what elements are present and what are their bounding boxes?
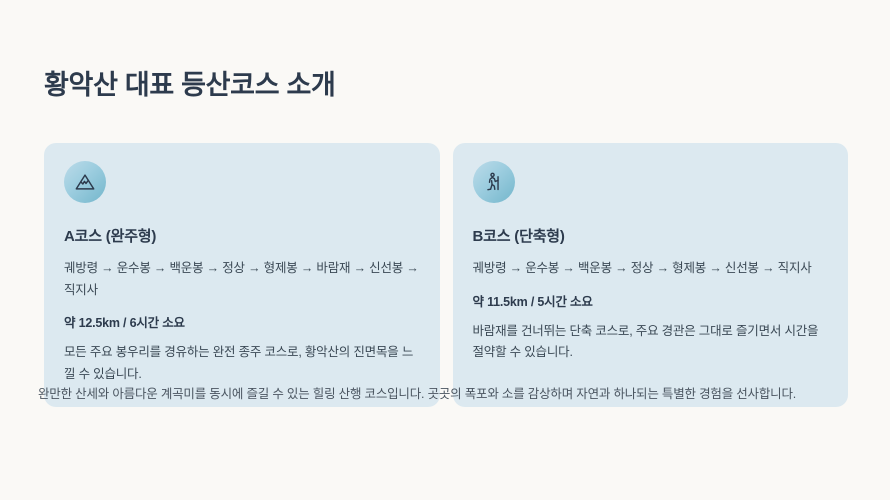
mountain-icon [64,161,106,203]
course-card-list: A코스 (완주형) 궤방령 → 운수봉 → 백운봉 → 정상 → 형제봉 → 바… [44,143,848,407]
course-card-stats: 약 12.5km / 6시간 소요 [64,312,420,331]
page-title: 황악산 대표 등산코스 소개 [44,68,336,103]
course-card-heading: A코스 (완주형) [64,225,420,246]
page-root: 황악산 대표 등산코스 소개 A코스 (완주형) 궤방령 → 운수봉 → 백운봉… [0,0,890,500]
course-card-route: 궤방령 → 운수봉 → 백운봉 → 정상 → 형제봉 → 바람재 → 신선봉 →… [64,258,420,301]
course-card-heading: B코스 (단축형) [473,225,829,246]
course-card-a[interactable]: A코스 (완주형) 궤방령 → 운수봉 → 백운봉 → 정상 → 형제봉 → 바… [44,143,440,407]
course-card-b[interactable]: B코스 (단축형) 궤방령 → 운수봉 → 백운봉 → 정상 → 형제봉 → 신… [453,143,849,407]
course-card-description: 바람재를 건너뛰는 단축 코스로, 주요 경관은 그대로 즐기면서 시간을 절약… [473,321,829,364]
course-card-stats: 약 11.5km / 5시간 소요 [473,291,829,310]
hiker-icon [473,161,515,203]
course-card-route: 궤방령 → 운수봉 → 백운봉 → 정상 → 형제봉 → 신선봉 → 직지사 [473,258,829,280]
footer-note: 완만한 산세와 아름다운 계곡미를 동시에 즐길 수 있는 힐링 산행 코스입니… [38,383,858,405]
course-card-description: 모든 주요 봉우리를 경유하는 완전 종주 코스로, 황악산의 진면목을 느낄 … [64,342,420,385]
